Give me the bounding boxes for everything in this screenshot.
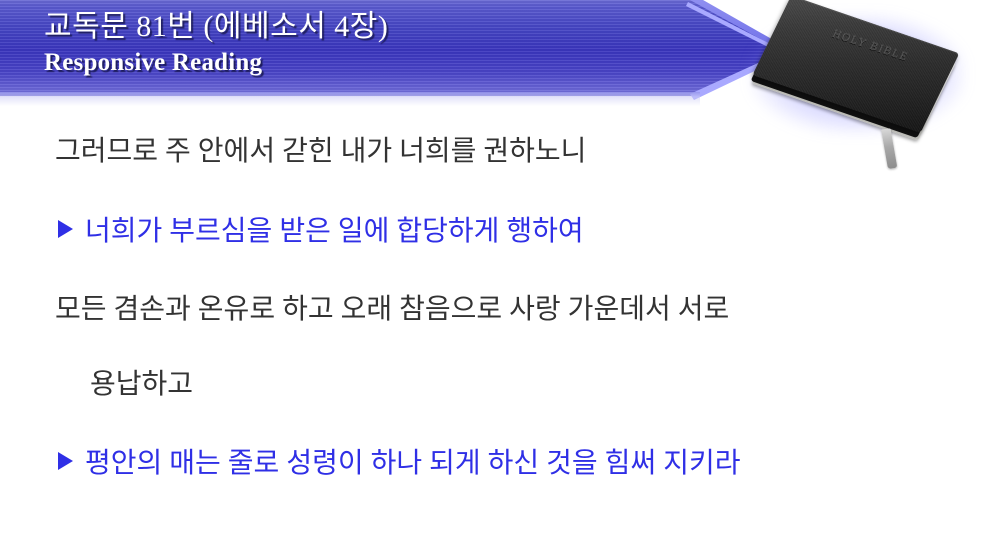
reading-line-1-text: 그러므로 주 안에서 갇힌 내가 너희를 권하노니: [55, 136, 586, 167]
reading-line-5: 평안의 매는 줄로 성령이 하나 되게 하신 것을 힘써 지키라: [58, 447, 740, 481]
slide-title-korean: 교독문 81번 (에베소서 4장): [44, 8, 684, 46]
header-text-group: 교독문 81번 (에베소서 4장) Responsive Reading: [44, 8, 684, 79]
slide-title-english: Responsive Reading: [44, 46, 684, 79]
reading-line-4-text: 용납하고: [90, 369, 193, 400]
reading-line-1: 그러므로 주 안에서 갇힌 내가 너희를 권하노니: [55, 135, 586, 169]
reading-line-4: 용납하고: [90, 368, 193, 402]
bible-book-image: HOLY BIBLE: [742, 6, 992, 156]
bible-ribbon-bookmark: [881, 128, 897, 169]
presentation-slide: 교독문 81번 (에베소서 4장) Responsive Reading HOL…: [0, 0, 999, 559]
reading-line-5-text: 평안의 매는 줄로 성령이 하나 되게 하신 것을 힘써 지키라: [85, 448, 740, 479]
banner-bottom-fade: [0, 92, 700, 106]
reading-line-2-text: 너희가 부르심을 받은 일에 합당하게 행하여: [85, 216, 584, 247]
reading-line-3-text: 모든 겸손과 온유로 하고 오래 참음으로 사랑 가운데서 서로: [55, 294, 729, 325]
reading-line-3: 모든 겸손과 온유로 하고 오래 참음으로 사랑 가운데서 서로: [55, 293, 729, 327]
triangle-bullet-icon: [58, 220, 73, 238]
reading-line-2: 너희가 부르심을 받은 일에 합당하게 행하여: [58, 215, 584, 249]
triangle-bullet-icon: [58, 452, 73, 470]
